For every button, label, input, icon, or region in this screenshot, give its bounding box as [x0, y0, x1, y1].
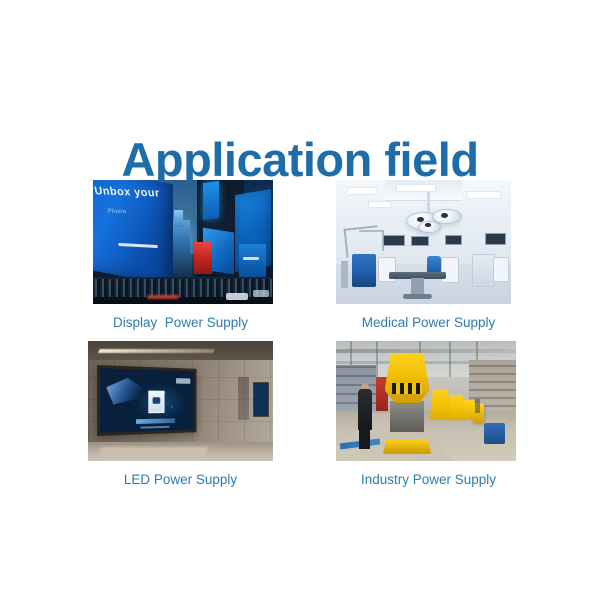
ad-brand-logo — [176, 378, 190, 384]
ceiling-strip-light — [98, 349, 214, 353]
operating-table-base — [403, 294, 433, 299]
caption-industry-power-supply: Industry Power Supply — [336, 472, 521, 488]
car-tail-lights — [147, 295, 179, 299]
ceiling-light-panel-3 — [466, 191, 502, 199]
ad-subline-bar — [140, 426, 170, 429]
workpiece-assembly — [390, 401, 424, 432]
roof-truss-4 — [449, 341, 451, 377]
equipment-cart-2 — [441, 257, 459, 283]
street-vehicle-2 — [253, 290, 269, 296]
blue-medical-equipment-cart — [352, 254, 377, 286]
far-led-sign — [253, 382, 270, 418]
ceiling-light-panel-4 — [368, 201, 391, 208]
floor-reflection — [97, 447, 209, 459]
equipment-cart-4 — [493, 257, 509, 281]
grid-item-led[interactable]: LED Power Supply — [88, 341, 273, 488]
ad-product-card — [149, 391, 165, 414]
ceiling-light-panel-2 — [396, 184, 437, 192]
grid-item-medical[interactable]: Medical Power Supply — [336, 180, 521, 331]
surgical-microscope-arm-2 — [359, 230, 384, 252]
application-field-grid: Unbox your Phone Display Power Supply — [88, 180, 512, 500]
display-monitor-3 — [445, 235, 463, 246]
led-lightbox-frame — [97, 365, 197, 436]
operating-table-column — [411, 278, 423, 295]
yellow-fixture-main — [385, 353, 430, 403]
display-monitor-1 — [383, 235, 404, 247]
distant-worker — [475, 399, 480, 413]
corridor-doorway — [238, 377, 249, 420]
operating-room-photo — [336, 180, 511, 304]
surgical-lamp-handle-3 — [425, 223, 430, 227]
ad-headline-bar — [136, 419, 175, 425]
caption-display-power-supply: Display Power Supply — [88, 315, 273, 331]
red-advert-panel — [194, 242, 212, 274]
led-lightbox-corridor-photo — [88, 341, 273, 461]
roof-truss-2 — [376, 341, 378, 377]
fixture-transport-base — [383, 439, 432, 453]
led-lightbox-screen — [100, 368, 194, 433]
overhead-beam-1 — [336, 349, 516, 353]
surgical-lamp-handle-1 — [417, 217, 424, 222]
grid-item-display[interactable]: Unbox your Phone Display Power Supply — [88, 180, 273, 331]
display-monitor-2 — [411, 236, 429, 247]
fixture-warning-stripes — [392, 383, 423, 394]
worker-legs — [359, 427, 370, 449]
display-monitor-4 — [485, 233, 506, 245]
slide-page: Application field Unbox your Phone — [0, 0, 600, 600]
street-vehicle-1 — [226, 293, 248, 300]
billboard-screen-lower-right — [239, 244, 266, 276]
page-title: Application field — [0, 134, 600, 186]
equipment-cart-3 — [472, 254, 495, 287]
worker-body — [358, 389, 372, 430]
caption-medical-power-supply: Medical Power Supply — [336, 315, 521, 331]
grid-item-industry[interactable]: Industry Power Supply — [336, 341, 521, 488]
billboard-screen-upper-right — [203, 181, 219, 220]
anesthesia-machine — [427, 256, 441, 272]
ceiling-light-panel-1 — [345, 187, 378, 195]
blue-tool-trolley — [484, 423, 506, 445]
factory-assembly-line-photo — [336, 341, 516, 461]
iv-stand — [341, 261, 348, 288]
times-square-led-billboards-photo: Unbox your Phone — [93, 180, 273, 304]
caption-led-power-supply: LED Power Supply — [88, 472, 273, 488]
